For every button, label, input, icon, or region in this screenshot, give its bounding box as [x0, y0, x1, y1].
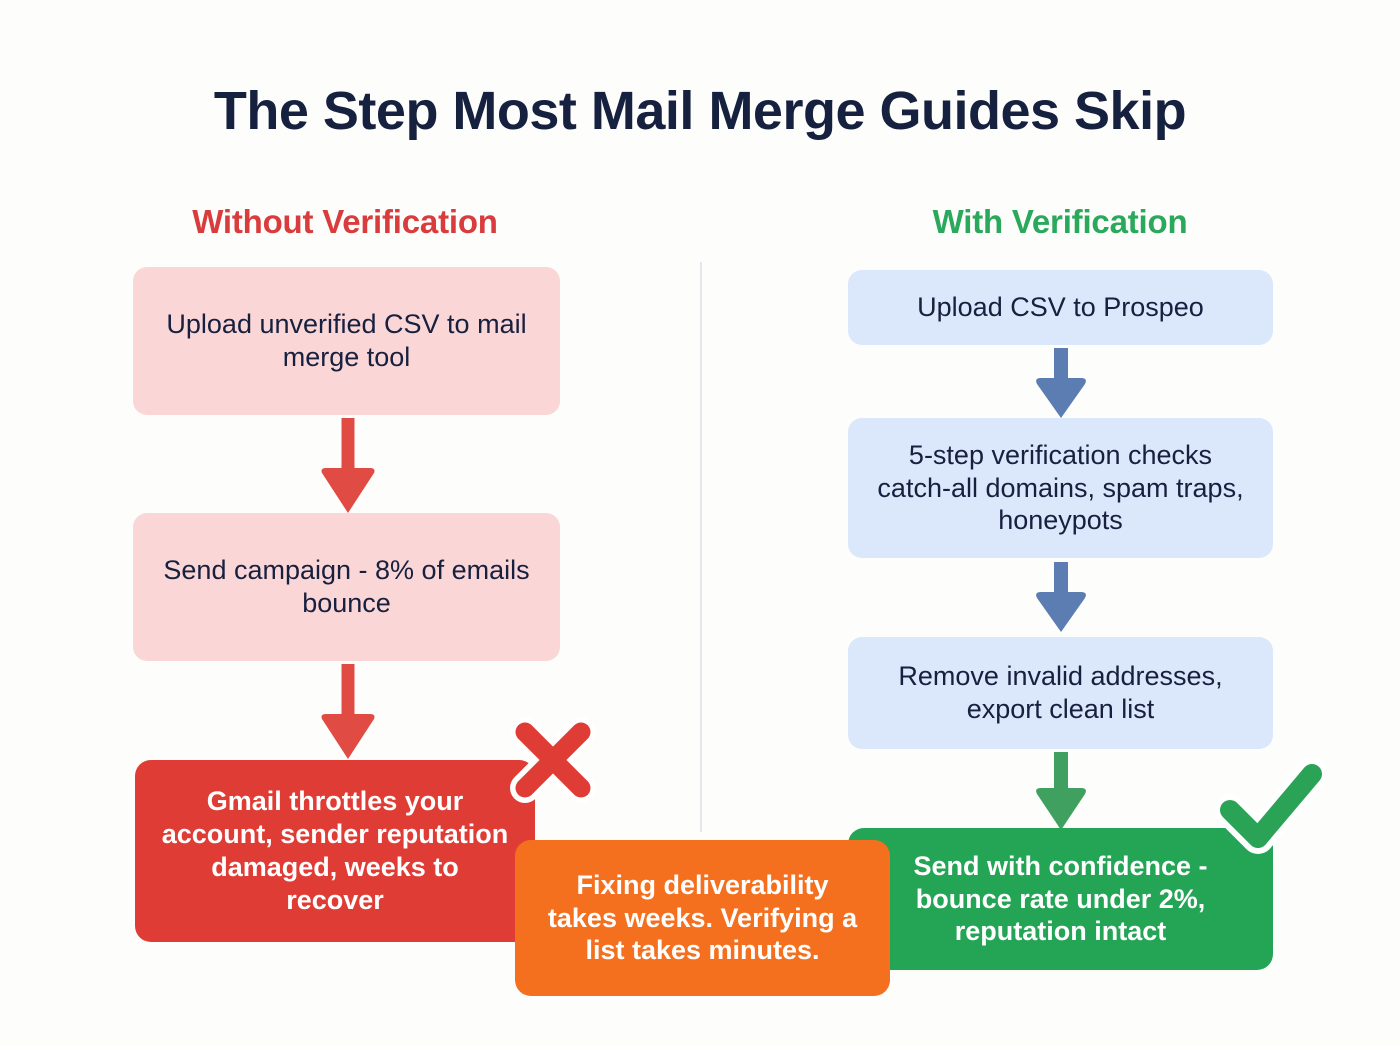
arrow-down-blue-2 — [1032, 562, 1090, 634]
column-divider — [700, 262, 702, 832]
page-title: The Step Most Mail Merge Guides Skip — [0, 80, 1400, 142]
flow-outcome-with: Send with confidence - bounce rate under… — [848, 828, 1273, 970]
flow-step-with-1: Upload CSV to Prospeo — [848, 270, 1273, 345]
check-icon — [1216, 758, 1324, 858]
arrow-down-blue-1 — [1032, 348, 1090, 420]
column-heading-with-verification: With Verification — [845, 203, 1275, 241]
flow-step-with-2: 5-step verification checks catch-all dom… — [848, 418, 1273, 558]
arrow-down-green — [1032, 752, 1090, 832]
arrow-down-red-2 — [318, 664, 378, 762]
cross-icon — [505, 712, 601, 808]
infographic-canvas: The Step Most Mail Merge Guides Skip Wit… — [0, 0, 1400, 1045]
arrow-down-red-1 — [318, 418, 378, 516]
column-heading-without-verification: Without Verification — [130, 203, 560, 241]
flow-step-without-1: Upload unverified CSV to mail merge tool — [133, 267, 560, 415]
flow-outcome-without: Gmail throttles your account, sender rep… — [135, 760, 535, 942]
center-callout-note: Fixing deliverability takes weeks. Verif… — [515, 840, 890, 996]
flow-step-without-2: Send campaign - 8% of emails bounce — [133, 513, 560, 661]
flow-step-with-3: Remove invalid addresses, export clean l… — [848, 637, 1273, 749]
